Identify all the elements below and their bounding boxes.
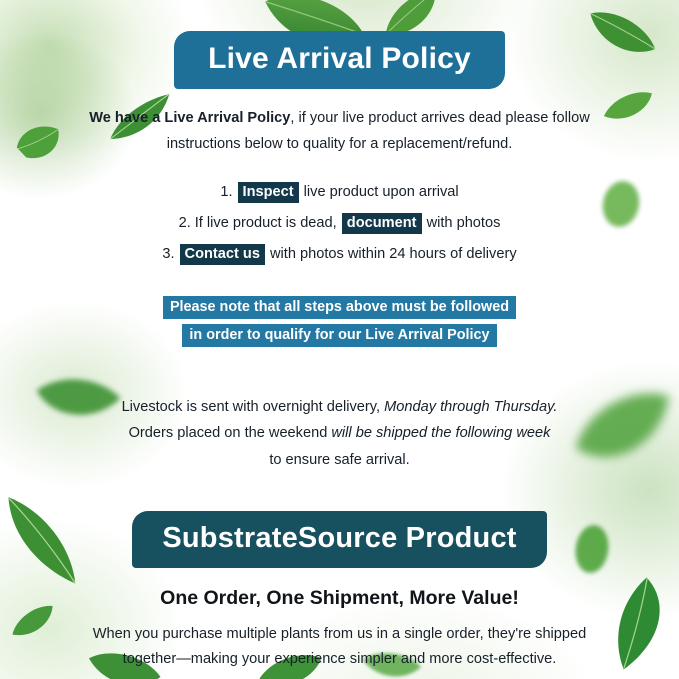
policy-intro-lead: We have a Live Arrival Policy xyxy=(89,110,290,126)
policy-note: Please note that all steps above must be… xyxy=(163,296,516,347)
step-number: 1. xyxy=(220,184,232,200)
livestock-line2-emphasis: will be shipped the following week xyxy=(331,425,550,441)
policy-note-line-2: in order to qualify for our Live Arrival… xyxy=(182,324,496,347)
step-text-after: live product upon arrival xyxy=(300,184,459,200)
livestock-line1-plain: Livestock is sent with overnight deliver… xyxy=(122,399,385,415)
value-body-text: When you purchase multiple plants from u… xyxy=(70,622,610,672)
policy-steps-list: 1.Inspect live product upon arrival 2.If… xyxy=(162,182,516,266)
substratesource-product-banner: SubstrateSource Product xyxy=(132,511,546,568)
livestock-line2-plain: Orders placed on the weekend xyxy=(129,425,332,441)
policy-intro-text: We have a Live Arrival Policy, if your l… xyxy=(67,106,612,157)
policy-note-line-1: Please note that all steps above must be… xyxy=(163,296,516,319)
step-highlight: Inspect xyxy=(238,182,299,203)
livestock-line1-emphasis: Monday through Thursday. xyxy=(384,399,557,415)
list-item: 3.Contact us with photos within 24 hours… xyxy=(162,244,516,266)
step-text-after: with photos within 24 hours of delivery xyxy=(266,246,517,262)
live-arrival-policy-banner: Live Arrival Policy xyxy=(174,31,505,89)
list-item: 1.Inspect live product upon arrival xyxy=(220,182,458,204)
step-text-before: If live product is dead, xyxy=(195,215,341,231)
step-text-after: with photos xyxy=(423,215,501,231)
livestock-line3: to ensure safe arrival. xyxy=(269,452,409,468)
step-number: 3. xyxy=(162,246,174,262)
list-item: 2.If live product is dead, document with… xyxy=(179,213,501,235)
step-highlight: document xyxy=(342,213,422,234)
policy-card: Live Arrival Policy We have a Live Arriv… xyxy=(0,0,679,679)
livestock-shipping-text: Livestock is sent with overnight deliver… xyxy=(80,394,600,474)
step-highlight: Contact us xyxy=(180,244,265,265)
value-subheading: One Order, One Shipment, More Value! xyxy=(160,587,519,610)
step-number: 2. xyxy=(179,215,191,231)
